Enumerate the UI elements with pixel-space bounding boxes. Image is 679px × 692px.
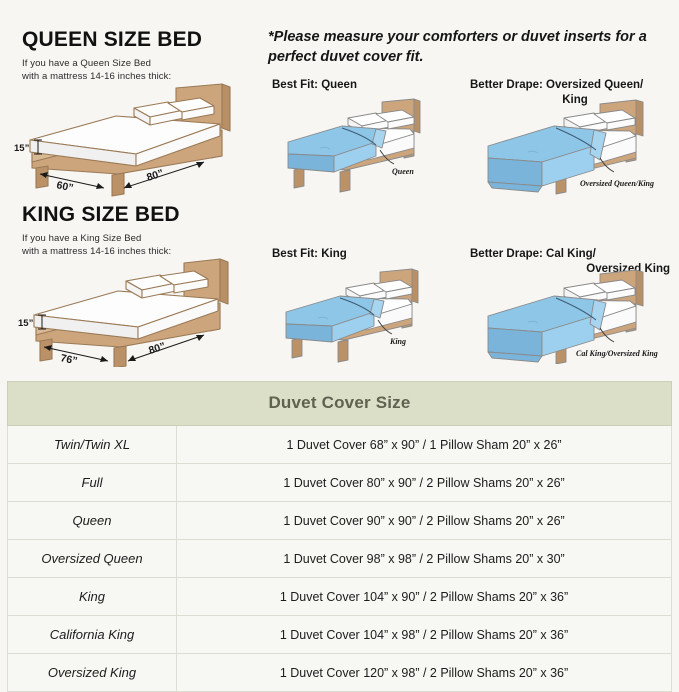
duvet-size-guide: QUEEN SIZE BED If you have a Queen Size … bbox=[0, 0, 679, 679]
king-best-fit-heading: Best Fit: King bbox=[272, 247, 467, 262]
king-better-drape-caption: Cal King/Oversized King bbox=[576, 349, 658, 358]
queen-size-block: QUEEN SIZE BED If you have a Queen Size … bbox=[0, 28, 262, 83]
table-row: California King 1 Duvet Cover 104” x 98”… bbox=[8, 616, 672, 654]
measure-note: *Please measure your comforters or duvet… bbox=[268, 27, 676, 67]
row-size-contents: 1 Duvet Cover 120” x 98” / 2 Pillow Sham… bbox=[177, 654, 672, 692]
table-row: Twin/Twin XL 1 Duvet Cover 68” x 90” / 1… bbox=[8, 426, 672, 464]
row-size-name: Twin/Twin XL bbox=[8, 426, 177, 464]
row-size-name: Oversized Queen bbox=[8, 540, 177, 578]
king-width-label: 76” bbox=[59, 352, 78, 367]
king-bed-illustration: 15” 76” 80” bbox=[8, 255, 258, 367]
table-body: Twin/Twin XL 1 Duvet Cover 68” x 90” / 1… bbox=[8, 426, 672, 692]
queen-best-fit-caption: Queen bbox=[392, 167, 414, 176]
queen-subtitle-line1: If you have a Queen Size Bed bbox=[22, 58, 151, 69]
queen-width-label: 60” bbox=[55, 179, 74, 194]
table-row: King 1 Duvet Cover 104” x 90” / 2 Pillow… bbox=[8, 578, 672, 616]
row-size-contents: 1 Duvet Cover 98” x 98” / 2 Pillow Shams… bbox=[177, 540, 672, 578]
queen-subtitle-line2: with a mattress 14-16 inches thick: bbox=[22, 71, 171, 82]
queen-better-drape-bed-illustration: Oversized Queen/King bbox=[480, 98, 675, 196]
row-size-name: California King bbox=[8, 616, 177, 654]
row-size-name: King bbox=[8, 578, 177, 616]
table-title: Duvet Cover Size bbox=[8, 382, 672, 426]
queen-best-fit-bed-illustration: Queen bbox=[276, 98, 441, 196]
king-best-fit-caption: King bbox=[389, 337, 406, 346]
king-height-label: 15” bbox=[18, 318, 34, 329]
king-length-label: 80” bbox=[147, 340, 167, 357]
queen-better-drape-caption: Oversized Queen/King bbox=[580, 179, 654, 188]
row-size-contents: 1 Duvet Cover 104” x 90” / 2 Pillow Sham… bbox=[177, 578, 672, 616]
row-size-name: Full bbox=[8, 464, 177, 502]
table-header-row: Duvet Cover Size bbox=[8, 382, 672, 426]
duvet-cover-size-table: Duvet Cover Size Twin/Twin XL 1 Duvet Co… bbox=[7, 381, 672, 692]
queen-length-label: 80” bbox=[145, 167, 165, 184]
row-size-name: Queen bbox=[8, 502, 177, 540]
table-row: Oversized King 1 Duvet Cover 120” x 98” … bbox=[8, 654, 672, 692]
queen-subtitle: If you have a Queen Size Bed with a matt… bbox=[22, 58, 262, 83]
king-title: KING SIZE BED bbox=[22, 203, 262, 227]
queen-best-fit-heading: Best Fit: Queen bbox=[272, 78, 467, 93]
queen-bed-illustration: 15” 60” 80” bbox=[8, 82, 258, 197]
row-size-contents: 1 Duvet Cover 104” x 98” / 2 Pillow Sham… bbox=[177, 616, 672, 654]
king-size-block: KING SIZE BED If you have a King Size Be… bbox=[0, 203, 262, 258]
row-size-contents: 1 Duvet Cover 90” x 90” / 2 Pillow Shams… bbox=[177, 502, 672, 540]
table-row: Queen 1 Duvet Cover 90” x 90” / 2 Pillow… bbox=[8, 502, 672, 540]
king-subtitle-line1: If you have a King Size Bed bbox=[22, 233, 141, 244]
row-size-contents: 1 Duvet Cover 80” x 90” / 2 Pillow Shams… bbox=[177, 464, 672, 502]
queen-title: QUEEN SIZE BED bbox=[22, 28, 262, 52]
queen-height-label: 15” bbox=[14, 143, 30, 154]
row-size-contents: 1 Duvet Cover 68” x 90” / 1 Pillow Sham … bbox=[177, 426, 672, 464]
king-better-drape-line1: Better Drape: Cal King/ bbox=[470, 248, 596, 260]
row-size-name: Oversized King bbox=[8, 654, 177, 692]
table-row: Full 1 Duvet Cover 80” x 90” / 2 Pillow … bbox=[8, 464, 672, 502]
king-better-drape-bed-illustration: Cal King/Oversized King bbox=[480, 268, 675, 364]
king-best-fit-bed-illustration: King bbox=[276, 268, 441, 364]
queen-better-drape-line1: Better Drape: Oversized Queen/ bbox=[470, 79, 643, 91]
table-row: Oversized Queen 1 Duvet Cover 98” x 98” … bbox=[8, 540, 672, 578]
